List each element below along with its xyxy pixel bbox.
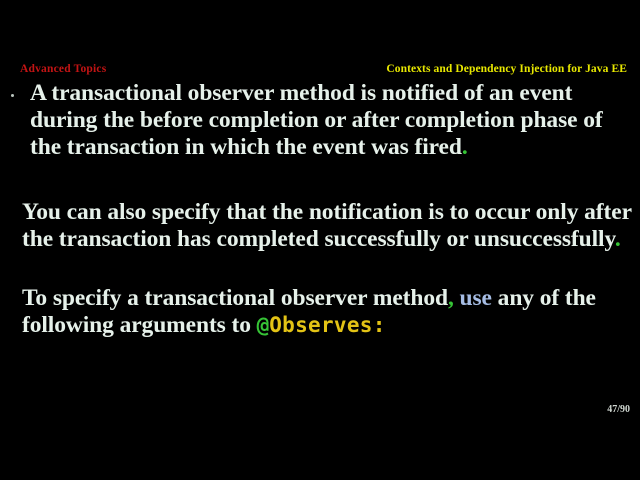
slide-canvas: Advanced Topics Contexts and Dependency … — [0, 0, 640, 480]
paragraph-1: A transactional observer method is notif… — [30, 80, 632, 161]
paragraph-3-annotation-code: Observes: — [269, 313, 386, 337]
at-sign-icon: @ — [257, 313, 270, 337]
header-course-title: Contexts and Dependency Injection for Ja… — [386, 63, 627, 75]
page-number: 47/90 — [607, 404, 630, 415]
paragraph-2-text: You can also specify that the notificati… — [22, 199, 631, 252]
paragraph-2: You can also specify that the notificati… — [0, 199, 640, 253]
spacer-1 — [0, 161, 640, 199]
paragraph-2-period: . — [615, 226, 621, 252]
paragraph-1-text: A transactional observer method is notif… — [30, 80, 603, 160]
paragraph-3-part1: To specify a transactional observer meth… — [22, 285, 448, 311]
header-topic-label: Advanced Topics — [20, 63, 106, 75]
slide-body: A transactional observer method is notif… — [0, 80, 640, 339]
slide-header: Advanced Topics Contexts and Dependency … — [0, 63, 640, 79]
paragraph-3-comma: , — [448, 285, 454, 311]
spacer-2 — [0, 253, 640, 285]
paragraph-1-period: . — [462, 134, 468, 160]
bullet-item-1: A transactional observer method is notif… — [0, 80, 640, 161]
paragraph-3-keyword-use: use — [460, 285, 492, 311]
paragraph-3: To specify a transactional observer meth… — [0, 285, 640, 339]
bullet-dot-icon — [11, 94, 14, 97]
